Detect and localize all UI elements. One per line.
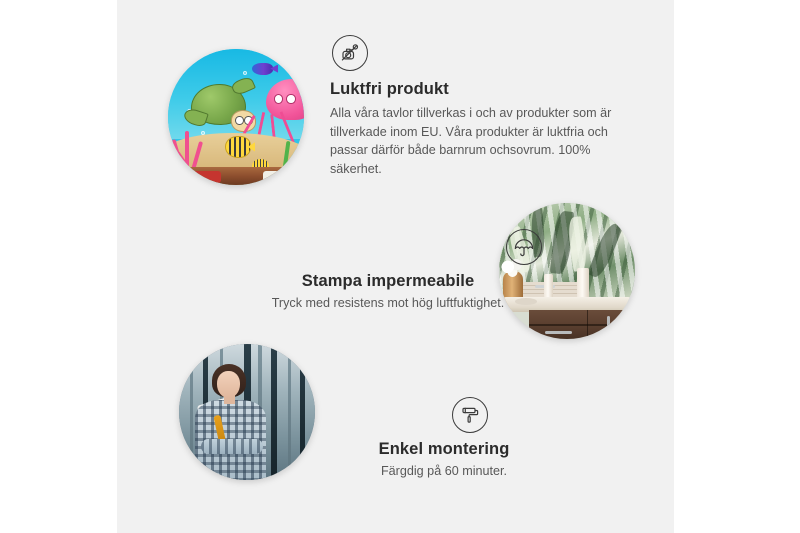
feature-title: Stampa impermeabile: [213, 272, 563, 291]
feature-body: Alla våra tavlor tillverkas i och av pro…: [330, 104, 630, 178]
feature-title: Luktfri produkt: [330, 80, 645, 99]
tree-trunk: [300, 344, 305, 480]
woman-painter-photo: [179, 344, 315, 480]
soap-bottle: [577, 268, 589, 301]
blue-fish-icon: [252, 63, 272, 75]
feature-body: Färgdig på 60 minuter.: [309, 462, 579, 481]
feature-waterproof: Stampa impermeabile Tryck med resistens …: [213, 229, 563, 313]
feature-title: Enkel montering: [309, 440, 579, 459]
cabinet-handle: [545, 331, 572, 334]
wooden-cabinet: [529, 310, 632, 339]
infographic-panel: Luktfri produkt Alla våra tavlor tillver…: [117, 0, 674, 533]
feature-odour-free: Luktfri produkt Alla våra tavlor tillver…: [330, 35, 645, 178]
photo-bottom-strip: [168, 167, 304, 185]
bubble-icon: [243, 71, 247, 75]
screenshot-root: Luktfri produkt Alla våra tavlor tillver…: [0, 0, 800, 533]
paint-roller-icon: [452, 397, 488, 433]
no-fragrance-icon: [332, 35, 368, 71]
cabinet-handle: [607, 316, 610, 335]
tree-trunk: [190, 344, 193, 480]
feature-body: Tryck med resistens mot hög luftfuktighe…: [213, 294, 563, 313]
umbrella-icon: [506, 229, 542, 265]
crossed-arms: [201, 439, 264, 454]
tree-trunk: [288, 344, 291, 480]
pink-coral: [173, 131, 208, 172]
tree-trunk: [271, 344, 277, 480]
cabinet-seam: [529, 324, 632, 326]
yellow-fish-icon: [225, 136, 251, 158]
feature-easy-mounting: Enkel montering Färgdig på 60 minuter.: [309, 397, 579, 481]
underwater-cartoon-photo: [168, 49, 304, 185]
